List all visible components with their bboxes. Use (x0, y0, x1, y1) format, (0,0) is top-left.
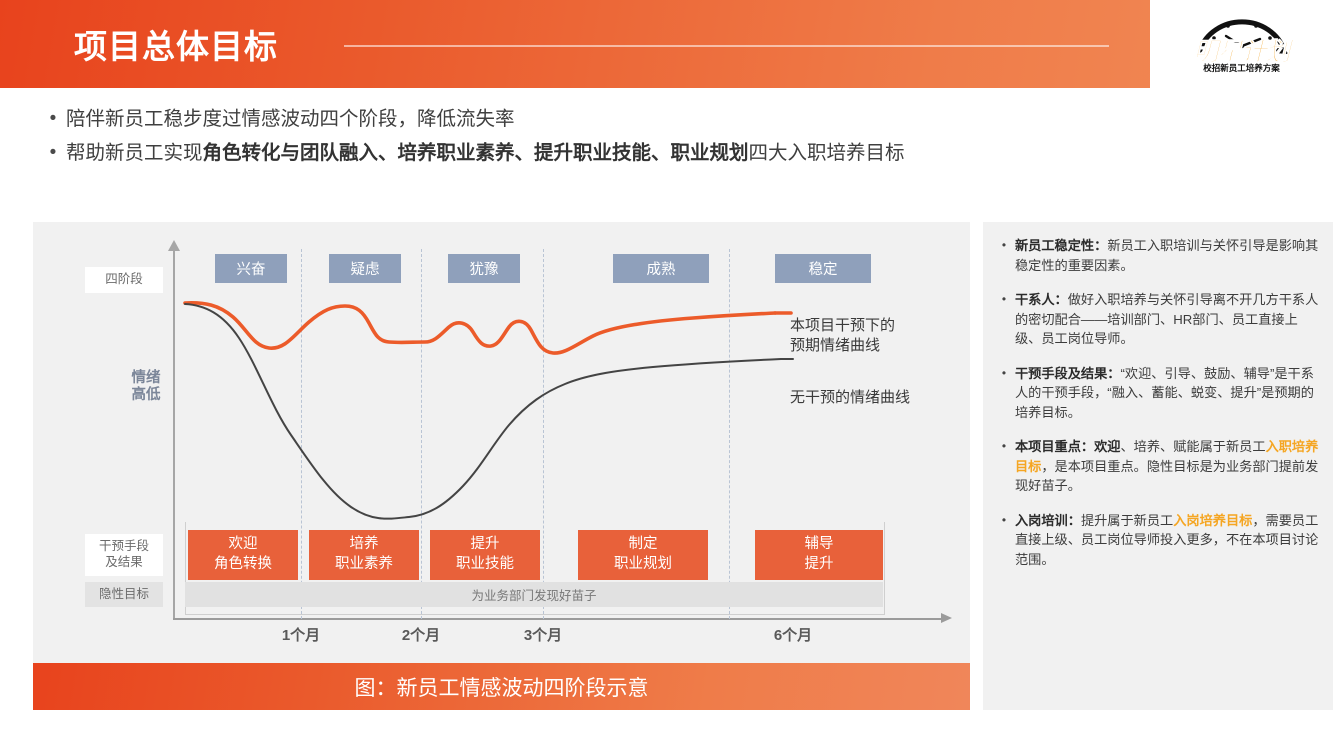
orange-curve-label-line2: 预期情绪曲线 (790, 336, 895, 356)
brand-logo: 明星计划 校招新员工培养方案 (1150, 0, 1333, 88)
lead-bullet-list: •陪伴新员工稳步度过情感波动四个阶段，降低流失率•帮助新员工实现角色转化与团队融… (40, 104, 1310, 172)
note-item-text: 本项目重点：欢迎、培养、赋能属于新员工入职培养目标，是本项目重点。隐性目标是为业… (1015, 437, 1319, 496)
note-item-5: •入岗培训：提升属于新员工入岗培养目标，需要员工直接上级、员工岗位导师投入更多，… (993, 511, 1319, 570)
chart-plot-area: 四阶段 干预手段 及结果 隐性目标 情绪 高低 兴奋疑虑犹豫成熟稳定 欢迎角色转… (33, 222, 970, 662)
gray-curve-label: 无干预的情绪曲线 (790, 388, 910, 408)
note-item-1: •新员工稳定性：新员工入职培训与关怀引导是影响其稳定性的重要因素。 (993, 236, 1319, 275)
note-item-text: 干系人：做好入职培养与关怀引导离不开几方干系人的密切配合——培训部门、HR部门、… (1015, 290, 1319, 349)
lead-bullet-2: •帮助新员工实现角色转化与团队融入、培养职业素养、提升职业技能、职业规划四大入职… (40, 138, 1310, 169)
logo-subtitle: 校招新员工培养方案 (1164, 62, 1319, 74)
emotion-curve-chart-panel: 四阶段 干预手段 及结果 隐性目标 情绪 高低 兴奋疑虑犹豫成熟稳定 欢迎角色转… (33, 222, 970, 710)
bullet-dot-icon: • (993, 437, 1015, 456)
note-item-text: 新员工稳定性：新员工入职培训与关怀引导是影响其稳定性的重要因素。 (1015, 236, 1319, 275)
slide-header: 项目总体目标 (0, 0, 1333, 88)
note-item-4: •本项目重点：欢迎、培养、赋能属于新员工入职培养目标，是本项目重点。隐性目标是为… (993, 437, 1319, 496)
bullet-dot-icon: • (40, 104, 66, 134)
note-item-2: •干系人：做好入职培养与关怀引导离不开几方干系人的密切配合——培训部门、HR部门… (993, 290, 1319, 349)
lead-bullet-text: 陪伴新员工稳步度过情感波动四个阶段，降低流失率 (66, 104, 1310, 135)
orange-curve-label: 本项目干预下的 预期情绪曲线 (790, 316, 895, 357)
page-title: 项目总体目标 (74, 20, 278, 68)
note-item-3: •干预手段及结果：“欢迎、引导、鼓励、辅导”是干系人的干预手段，“融入、蓄能、蜕… (993, 364, 1319, 423)
orange-curve-label-line1: 本项目干预下的 (790, 316, 895, 336)
bullet-dot-icon: • (40, 138, 66, 168)
notes-side-panel: •新员工稳定性：新员工入职培训与关怀引导是影响其稳定性的重要因素。•干系人：做好… (983, 222, 1333, 710)
orange-intervention-curve (185, 303, 775, 353)
bullet-dot-icon: • (993, 511, 1015, 530)
emotion-curves-svg (33, 222, 970, 662)
lead-bullet-text: 帮助新员工实现角色转化与团队融入、培养职业素养、提升职业技能、职业规划四大入职培… (66, 138, 1310, 169)
bullet-dot-icon: • (993, 236, 1015, 255)
note-item-text: 干预手段及结果：“欢迎、引导、鼓励、辅导”是干系人的干预手段，“融入、蓄能、蜕变… (1015, 364, 1319, 423)
note-item-text: 入岗培训：提升属于新员工入岗培养目标，需要员工直接上级、员工岗位导师投入更多，不… (1015, 511, 1319, 570)
gray-no-intervention-curve (185, 304, 781, 519)
bullet-dot-icon: • (993, 290, 1015, 309)
header-divider-line (344, 45, 1109, 47)
slide-root: 项目总体目标 明星计划 校招新员工培养方案 •陪伴新员工稳步度过情感波动四个阶段… (0, 0, 1333, 750)
lead-bullet-1: •陪伴新员工稳步度过情感波动四个阶段，降低流失率 (40, 104, 1310, 135)
chart-caption: 图：新员工情感波动四阶段示意 (33, 663, 970, 710)
bullet-dot-icon: • (993, 364, 1015, 383)
